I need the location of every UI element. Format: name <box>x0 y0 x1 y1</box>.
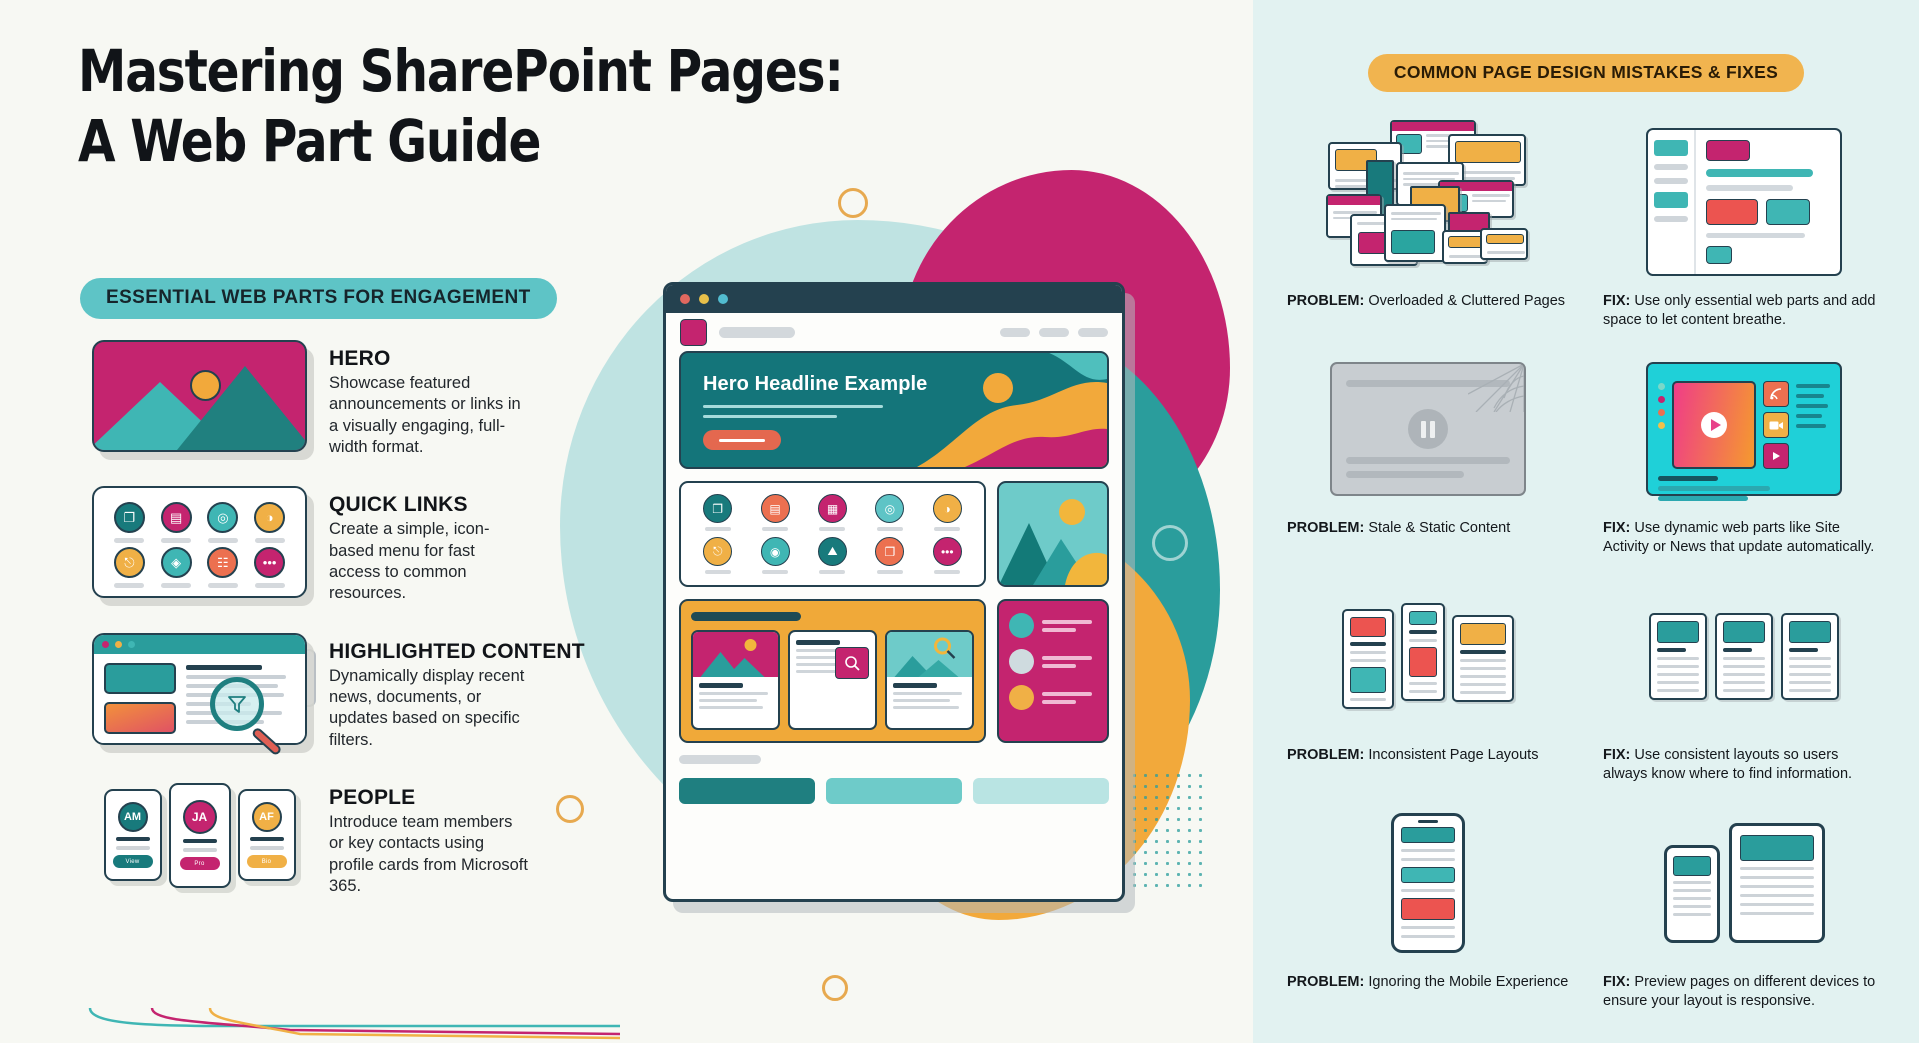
people-row[interactable] <box>1009 649 1097 674</box>
page-card <box>1384 204 1446 262</box>
clean-layout-illustration <box>1603 118 1885 286</box>
page-card <box>1452 615 1514 702</box>
people-row[interactable] <box>1009 685 1097 710</box>
news-icon[interactable]: ▤ <box>161 502 192 533</box>
mountain-icon <box>693 632 778 677</box>
avatar: AF <box>252 802 282 832</box>
problem-caption: PROBLEM: Stale & Static Content <box>1287 519 1569 538</box>
content-card[interactable] <box>885 630 974 730</box>
phone-header <box>1401 827 1455 843</box>
decorative-ring-bottom-2 <box>822 975 848 1001</box>
quick-link-cell[interactable]: ••• <box>921 537 974 574</box>
quick-link-label <box>762 527 788 531</box>
shield-icon[interactable]: ◑ <box>933 494 962 523</box>
image-web-part <box>997 481 1109 587</box>
phone-header <box>1673 856 1711 876</box>
mountain-icon <box>999 485 1109 585</box>
fix-text: Preview pages on different devices to en… <box>1603 974 1875 1009</box>
quick-link-cell[interactable]: ▤ <box>157 502 196 543</box>
mistakes-fixes-pill-label: COMMON PAGE DESIGN MISTAKES & FIXES <box>1394 62 1778 82</box>
text-line <box>1658 476 1718 481</box>
card-line <box>893 706 959 709</box>
people-row[interactable] <box>1009 613 1097 638</box>
phone-block <box>1401 867 1455 883</box>
nav-links <box>1000 328 1108 337</box>
site-logo[interactable] <box>680 319 707 346</box>
refresh-icon[interactable]: ⎋ <box>703 537 732 566</box>
essential-web-parts-pill: ESSENTIAL WEB PARTS FOR ENGAGEMENT <box>80 278 557 319</box>
quick-link-label <box>819 527 845 531</box>
avatar: JA <box>183 800 217 834</box>
mountain-icon <box>887 632 972 677</box>
document-icon[interactable]: ❐ <box>114 502 145 533</box>
more-icon[interactable]: ••• <box>254 547 285 578</box>
card-line <box>699 706 763 709</box>
cluttered-cards <box>1330 128 1526 276</box>
feature-tiles <box>1763 381 1789 469</box>
problem-caption: PROBLEM: Ignoring the Mobile Experience <box>1287 973 1569 992</box>
profile-card[interactable]: AMView <box>104 789 162 881</box>
avatar <box>1009 613 1034 638</box>
magnifier-icon <box>210 677 264 731</box>
hero-web-part: Hero Headline Example <box>679 351 1109 469</box>
profile-card[interactable]: AFBio <box>238 789 296 881</box>
status-dot <box>1658 383 1665 390</box>
sidebar-line <box>1654 164 1688 170</box>
cobweb-icon <box>1468 364 1524 412</box>
problem-item-stale: PROBLEM: Stale & Static Content <box>1287 345 1569 556</box>
quick-link-cell[interactable]: ▤ <box>748 494 801 531</box>
phone-mockup <box>1391 813 1465 953</box>
quick-link-cell[interactable]: ◎ <box>204 502 243 543</box>
window-minimize-dot[interactable] <box>699 294 709 304</box>
document-icon[interactable]: ❐ <box>703 494 732 523</box>
feature-highlighted-content-title: HIGHLIGHTED CONTENT <box>329 641 585 664</box>
card-header <box>1723 621 1765 643</box>
video-player[interactable] <box>1672 381 1756 469</box>
more-icon[interactable]: ••• <box>933 537 962 566</box>
sharepoint-page-mockup: Hero Headline Example ❐▤▦◎◑⎋◉⛰❐••• <box>663 282 1125 902</box>
fix-text: Use consistent layouts so users always k… <box>1603 747 1852 782</box>
quick-link-cell[interactable]: ☷ <box>204 547 243 588</box>
people-art: AMViewJAProAFBio <box>92 779 307 891</box>
quick-link-cell[interactable]: ⎋ <box>110 547 149 588</box>
quick-links-icon-grid: ❐▤◎◑⎋◈☷••• <box>94 488 305 596</box>
text-line <box>1658 486 1770 491</box>
overloaded-pages-illustration <box>1287 118 1569 286</box>
layers-icon[interactable]: ◈ <box>161 547 192 578</box>
play-tile-icon[interactable] <box>1763 443 1789 469</box>
inconsistent-cards <box>1342 603 1514 709</box>
profile-button[interactable]: View <box>113 855 153 868</box>
content-cards <box>691 630 974 730</box>
quick-link-label <box>934 527 960 531</box>
name-line <box>116 837 150 841</box>
window-dot-red <box>102 641 109 648</box>
tablet-header <box>1740 835 1814 861</box>
quick-link-label <box>114 538 144 543</box>
status-dot <box>1658 422 1665 429</box>
target-icon[interactable]: ◎ <box>875 494 904 523</box>
mockup-body: Hero Headline Example ❐▤▦◎◑⎋◉⛰❐••• <box>666 351 1122 816</box>
problem-caption: PROBLEM: Overloaded & Cluttered Pages <box>1287 292 1569 311</box>
browser-titlebar <box>94 635 305 654</box>
news-thumbnail-1 <box>104 663 176 695</box>
feature-people: AMViewJAProAFBio PEOPLE Introduce team m… <box>92 779 612 897</box>
quick-link-label <box>161 538 191 543</box>
thumbnail-column <box>104 663 176 734</box>
card-title-line <box>893 683 937 688</box>
page-card <box>1781 613 1839 700</box>
quick-link-cell[interactable]: ⎋ <box>691 537 744 574</box>
fix-caption: FIX: Use consistent layouts so users alw… <box>1603 746 1885 783</box>
shield-icon[interactable]: ◑ <box>254 502 285 533</box>
stale-page-card <box>1330 362 1526 496</box>
profile-card[interactable]: JAPro <box>169 783 231 888</box>
profile-button[interactable]: Bio <box>247 855 287 868</box>
text-line <box>1796 394 1824 398</box>
content-bar <box>1706 185 1793 190</box>
problem-label: PROBLEM: <box>1287 520 1364 536</box>
sidebar-column <box>1648 130 1696 274</box>
news-icon[interactable]: ▤ <box>761 494 790 523</box>
quick-link-cell[interactable]: ◈ <box>157 547 196 588</box>
nav-link[interactable] <box>1039 328 1069 337</box>
text-line <box>186 665 262 670</box>
mockup-row-highlighted <box>679 599 1109 743</box>
feature-highlighted-content: HIGHLIGHTED CONTENT Dynamically display … <box>92 633 612 751</box>
card-line <box>893 699 950 702</box>
decorative-ring-small <box>838 188 868 218</box>
highlighted-content-card <box>92 633 307 745</box>
feature-quick-links: ❐▤◎◑⎋◈☷••• QUICK LINKS Create a simple, … <box>92 486 612 604</box>
quick-link-cell[interactable]: ❐ <box>110 502 149 543</box>
file-icon[interactable]: ❐ <box>875 537 904 566</box>
quick-link-label <box>161 583 191 588</box>
content-card[interactable] <box>788 630 877 730</box>
search-icon[interactable] <box>835 647 869 679</box>
consistent-layout-illustration <box>1603 572 1885 740</box>
problem-item-overloaded: PROBLEM: Overloaded & Cluttered Pages <box>1287 118 1569 329</box>
card-text <box>887 677 972 715</box>
essential-web-parts-pill-label: ESSENTIAL WEB PARTS FOR ENGAGEMENT <box>106 287 531 308</box>
feature-people-text: PEOPLE Introduce team members or key con… <box>329 779 529 897</box>
problem-label: PROBLEM: <box>1287 747 1364 763</box>
title-line-2: A Web Part Guide <box>78 112 843 170</box>
mobile-experience-illustration <box>1287 799 1569 967</box>
fix-item-consistent-layouts: FIX: Use consistent layouts so users alw… <box>1603 572 1885 783</box>
inconsistent-layout-illustration <box>1287 572 1569 740</box>
quick-link-label <box>819 570 845 574</box>
role-line <box>250 846 284 850</box>
feature-people-title: PEOPLE <box>329 787 529 810</box>
left-panel: Mastering SharePoint Pages: A Web Part G… <box>0 0 1253 1043</box>
rss-icon[interactable] <box>1763 381 1789 407</box>
side-text-lines <box>1796 381 1830 469</box>
browser-content <box>94 654 305 743</box>
news-thumbnail-2 <box>104 702 176 734</box>
phone-block <box>1401 898 1455 920</box>
card-header <box>1789 621 1831 643</box>
sidebar-block <box>1654 140 1688 156</box>
list-icon[interactable]: ▦ <box>818 494 847 523</box>
content-bar <box>1706 233 1805 238</box>
text-line <box>1796 424 1826 428</box>
avatar <box>1009 685 1034 710</box>
feature-list: HERO Showcase featured announcements or … <box>92 340 612 926</box>
card-thumbnail <box>693 632 778 677</box>
sidebar-line <box>1654 178 1688 184</box>
hero-art <box>92 340 307 452</box>
fix-text: Use only essential web parts and add spa… <box>1603 293 1875 328</box>
fix-label: FIX: <box>1603 520 1630 536</box>
responsive-preview-illustration <box>1603 799 1885 967</box>
quick-link-cell[interactable]: ❐ <box>691 494 744 531</box>
problem-item-inconsistent: PROBLEM: Inconsistent Page Layouts <box>1287 572 1569 783</box>
infographic-canvas: Mastering SharePoint Pages: A Web Part G… <box>0 0 1919 1043</box>
mockup-row-quick-links: ❐▤▦◎◑⎋◉⛰❐••• <box>679 481 1109 587</box>
feature-highlighted-content-desc: Dynamically display recent news, documen… <box>329 666 529 752</box>
bottom-text-lines <box>1658 476 1830 501</box>
quick-link-cell[interactable]: ❐ <box>863 537 916 574</box>
quick-link-cell[interactable]: ◑ <box>921 494 974 531</box>
filter-funnel-icon <box>226 693 248 715</box>
decorative-ring-medium <box>1152 525 1188 561</box>
person-lines <box>1042 620 1097 632</box>
card-thumbnail <box>887 632 972 677</box>
window-maximize-dot[interactable] <box>718 294 728 304</box>
card-line <box>796 670 840 673</box>
feature-quick-links-desc: Create a simple, icon-based menu for fas… <box>329 519 529 605</box>
hero-subline <box>703 415 837 418</box>
name-line <box>183 839 217 843</box>
fix-item-dynamic-parts: FIX: Use dynamic web parts like Site Act… <box>1603 345 1885 556</box>
nav-link[interactable] <box>1000 328 1030 337</box>
placeholder-bar <box>1346 471 1464 478</box>
content-box <box>1766 199 1810 225</box>
status-dot <box>1658 396 1665 403</box>
feature-quick-links-title: QUICK LINKS <box>329 494 529 517</box>
feature-people-desc: Introduce team members or key contacts u… <box>329 812 529 898</box>
quick-links-web-part: ❐▤▦◎◑⎋◉⛰❐••• <box>679 481 986 587</box>
quick-link-cell[interactable]: ◑ <box>250 502 289 543</box>
mockup-titlebar <box>666 285 1122 313</box>
right-panel: COMMON PAGE DESIGN MISTAKES & FIXES <box>1253 0 1919 1043</box>
tablet-mockup <box>1729 823 1825 943</box>
mistakes-fixes-pill: COMMON PAGE DESIGN MISTAKES & FIXES <box>1368 54 1804 92</box>
mistakes-fixes-grid: PROBLEM: Overloaded & Cluttered Pages <box>1287 118 1885 1026</box>
mockup-footer-buttons <box>679 778 1109 804</box>
page-card <box>1480 228 1528 260</box>
dot-pattern-top <box>1128 262 1200 374</box>
highlighted-content-web-part <box>679 599 986 743</box>
page-card <box>1649 613 1707 700</box>
quick-link-cell[interactable]: ◉ <box>748 537 801 574</box>
feature-hero-text: HERO Showcase featured announcements or … <box>329 340 529 458</box>
fix-label: FIX: <box>1603 747 1630 763</box>
quick-link-label <box>255 538 285 543</box>
pause-icon <box>1408 409 1448 449</box>
footer-label <box>679 755 761 764</box>
quick-link-label <box>877 527 903 531</box>
quick-link-label <box>762 570 788 574</box>
quick-link-label <box>934 570 960 574</box>
problem-text: Ignoring the Mobile Experience <box>1364 974 1568 990</box>
avatar <box>1009 649 1034 674</box>
quick-link-label <box>705 527 731 531</box>
fix-item-responsive-preview: FIX: Preview pages on different devices … <box>1603 799 1885 1010</box>
people-web-part <box>997 599 1109 743</box>
page-card <box>1401 603 1445 701</box>
highlighted-content-art <box>92 633 307 745</box>
window-close-dot[interactable] <box>680 294 690 304</box>
page-card <box>1715 613 1773 700</box>
feature-hero-desc: Showcase featured announcements or links… <box>329 373 529 459</box>
main-column <box>1696 130 1840 274</box>
status-dot <box>1658 409 1665 416</box>
sidebar-block <box>1654 192 1688 208</box>
content-bar <box>1706 169 1813 177</box>
card-line <box>893 692 962 695</box>
hero-cta-button[interactable] <box>703 430 781 450</box>
quick-link-cell[interactable]: ⛰ <box>806 537 859 574</box>
profile-button[interactable]: Pro <box>180 857 220 870</box>
content-row <box>1706 199 1830 225</box>
window-dot-yellow <box>115 641 122 648</box>
search-input[interactable] <box>719 327 795 338</box>
hero-headline: Hero Headline Example <box>703 373 1107 396</box>
section-title-bar <box>691 612 801 621</box>
quick-link-label <box>208 583 238 588</box>
quick-link-cell[interactable]: ◎ <box>863 494 916 531</box>
quick-links-card: ❐▤◎◑⎋◈☷••• <box>92 486 307 598</box>
avatar: AM <box>118 802 148 832</box>
text-line <box>1796 414 1822 418</box>
problem-caption: PROBLEM: Inconsistent Page Layouts <box>1287 746 1569 765</box>
hero-block <box>1706 140 1750 161</box>
fix-label: FIX: <box>1603 974 1630 990</box>
title-line-1: Mastering SharePoint Pages: <box>78 42 843 100</box>
page-card <box>1342 609 1394 709</box>
dynamic-content-illustration <box>1603 345 1885 513</box>
card-text <box>693 677 778 715</box>
hero-image-card <box>92 340 307 452</box>
stale-content-illustration <box>1287 345 1569 513</box>
text-line <box>1796 384 1830 388</box>
nav-link[interactable] <box>1078 328 1108 337</box>
fix-item-essential-parts: FIX: Use only essential web parts and ad… <box>1603 118 1885 329</box>
quick-link-label <box>255 583 285 588</box>
refresh-icon[interactable]: ⎋ <box>114 547 145 578</box>
fix-text: Use dynamic web parts like Site Activity… <box>1603 520 1874 555</box>
feature-hero: HERO Showcase featured announcements or … <box>92 340 612 458</box>
card-title-line <box>699 683 743 688</box>
person-lines <box>1042 692 1097 704</box>
quick-link-cell[interactable]: ▦ <box>806 494 859 531</box>
fix-label: FIX: <box>1603 293 1630 309</box>
text-line <box>1658 496 1748 501</box>
image-icon[interactable]: ⛰ <box>818 537 847 566</box>
connector-lines <box>60 1008 620 1042</box>
hero-subline <box>703 405 883 408</box>
problem-item-mobile: PROBLEM: Ignoring the Mobile Experience <box>1287 799 1569 1010</box>
person-lines <box>1042 656 1097 668</box>
quick-links-art: ❐▤◎◑⎋◈☷••• <box>92 486 307 598</box>
video-camera-icon[interactable] <box>1763 412 1789 438</box>
globe-icon[interactable]: ◎ <box>207 502 238 533</box>
sidebar-line <box>1654 216 1688 222</box>
dynamic-page-card <box>1646 362 1842 496</box>
problem-label: PROBLEM: <box>1287 293 1364 309</box>
fix-caption: FIX: Use only essential web parts and ad… <box>1603 292 1885 329</box>
window-dot-teal <box>128 641 135 648</box>
calendar-icon[interactable]: ☷ <box>207 547 238 578</box>
feature-hero-title: HERO <box>329 348 529 371</box>
quick-link-cell[interactable]: ••• <box>250 547 289 588</box>
mountain-icon-right <box>177 366 307 450</box>
content-area <box>1658 381 1830 469</box>
feature-highlighted-content-text: HIGHLIGHTED CONTENT Dynamically display … <box>329 633 585 751</box>
clean-page-card <box>1646 128 1842 276</box>
problem-label: PROBLEM: <box>1287 974 1364 990</box>
text-line <box>1796 404 1828 408</box>
placeholder-bar <box>1346 457 1510 464</box>
problem-text: Stale & Static Content <box>1364 520 1510 536</box>
quick-link-label <box>877 570 903 574</box>
footer-button[interactable] <box>973 778 1109 804</box>
dot-pattern-bottom <box>1118 770 1204 890</box>
status-dots <box>1658 381 1665 469</box>
name-line <box>250 837 284 841</box>
card-title-line <box>796 640 840 645</box>
magnifier-glyph <box>844 655 861 672</box>
card-header <box>1657 621 1699 643</box>
footer-button[interactable] <box>679 778 815 804</box>
mockup-navbar <box>666 313 1122 351</box>
fix-caption: FIX: Use dynamic web parts like Site Act… <box>1603 519 1885 556</box>
card-line <box>699 699 757 702</box>
device-group <box>1664 823 1825 943</box>
feature-quick-links-text: QUICK LINKS Create a simple, icon-based … <box>329 486 529 604</box>
content-box <box>1706 246 1732 264</box>
quick-link-label <box>114 583 144 588</box>
quick-link-label <box>705 570 731 574</box>
fix-caption: FIX: Preview pages on different devices … <box>1603 973 1885 1010</box>
consistent-cards <box>1649 613 1839 700</box>
role-line <box>116 846 150 850</box>
content-card[interactable] <box>691 630 780 730</box>
problem-text: Overloaded & Cluttered Pages <box>1364 293 1565 309</box>
quick-link-label <box>208 538 238 543</box>
page-title: Mastering SharePoint Pages: A Web Part G… <box>78 42 900 170</box>
footer-button[interactable] <box>826 778 962 804</box>
hero-wave-decoration <box>847 351 1107 467</box>
play-icon[interactable] <box>1701 412 1727 438</box>
card-line <box>699 692 768 695</box>
eye-icon[interactable]: ◉ <box>761 537 790 566</box>
problem-text: Inconsistent Page Layouts <box>1364 747 1538 763</box>
role-line <box>183 848 217 852</box>
people-card-row: AMViewJAProAFBio <box>92 779 307 891</box>
phone-mockup <box>1664 845 1720 943</box>
content-box <box>1706 199 1758 225</box>
